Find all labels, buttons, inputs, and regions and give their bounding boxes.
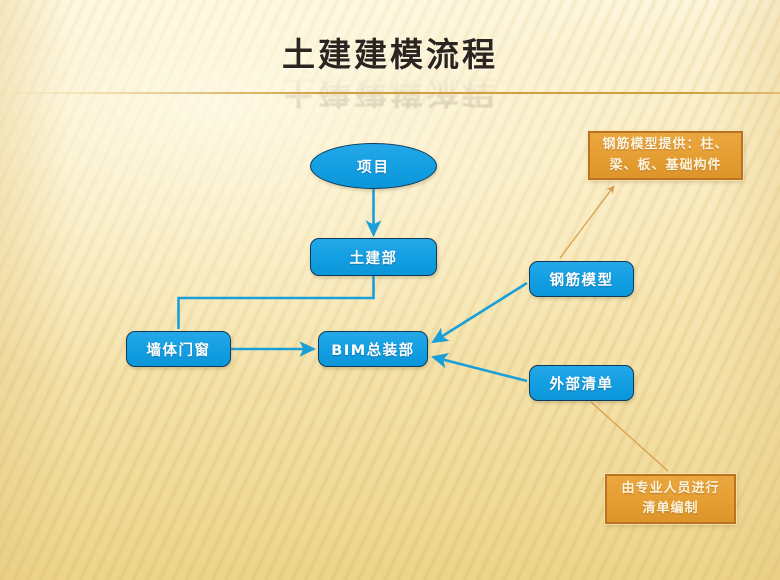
node-rebar-model-label: 钢筋模型 [550, 269, 614, 290]
node-project[interactable]: 项目 [310, 143, 437, 189]
edge-rebar-to-note [560, 186, 614, 258]
node-wall-door-window[interactable]: 墙体门窗 [126, 331, 231, 367]
node-rebar-model[interactable]: 钢筋模型 [529, 261, 634, 297]
edge-civil-to-wall [179, 276, 374, 329]
node-civil-dept-label: 土建部 [350, 247, 398, 268]
node-project-label: 项目 [357, 156, 390, 177]
node-external-list-label: 外部清单 [550, 373, 614, 394]
node-bim-assembly-dept[interactable]: BIM总装部 [318, 331, 428, 367]
edge-extlist-to-note [591, 402, 668, 471]
node-wall-door-window-label: 墙体门窗 [147, 339, 211, 360]
node-external-list[interactable]: 外部清单 [529, 365, 634, 401]
callout-external-list-note[interactable]: 由专业人员进行清单编制 [605, 474, 736, 524]
edge-rebar-to-bim [433, 283, 527, 342]
edge-extlist-to-bim [433, 357, 527, 381]
callout-external-list-note-text: 由专业人员进行清单编制 [615, 479, 726, 519]
node-bim-assembly-dept-label: BIM总装部 [331, 339, 414, 360]
callout-rebar-note-text: 钢筋模型提供：柱、梁、板、基础构件 [598, 135, 733, 175]
slide-canvas: 土建建模流程 土建建模流程 [0, 0, 780, 580]
node-civil-dept[interactable]: 土建部 [310, 238, 437, 276]
callout-rebar-note[interactable]: 钢筋模型提供：柱、梁、板、基础构件 [588, 131, 743, 180]
